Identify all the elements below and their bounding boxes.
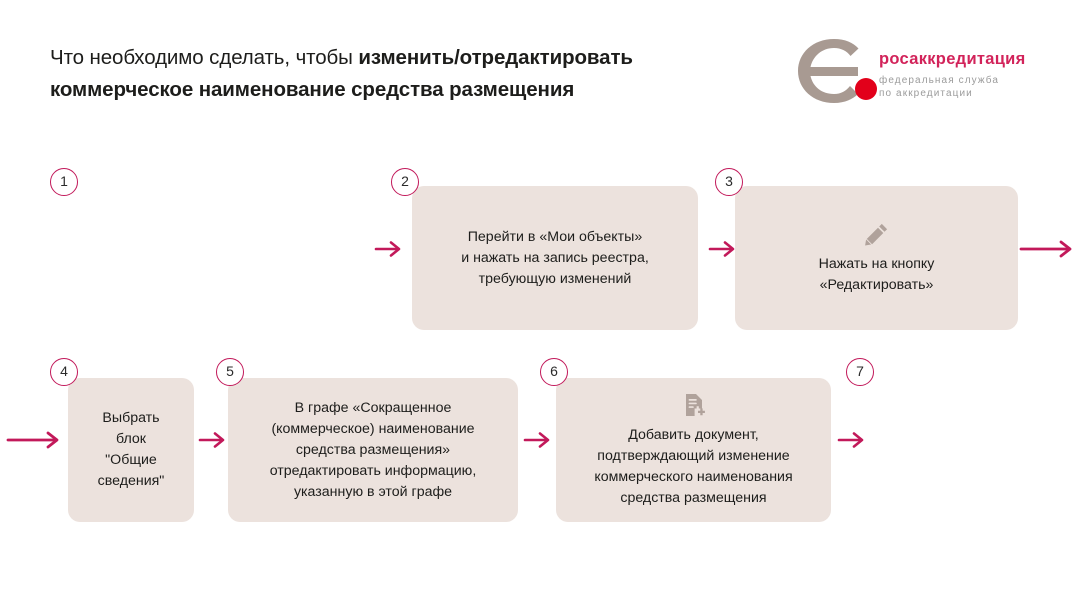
step-badge-6: 6 bbox=[540, 358, 568, 386]
step-badge-5: 5 bbox=[216, 358, 244, 386]
arrow-step3-to-next-row bbox=[1019, 239, 1077, 259]
page-title: Что необходимо сделать, чтобы изменить/о… bbox=[50, 42, 760, 106]
step-box-4: Выбрать блок "Общие сведения" bbox=[68, 378, 194, 522]
step-box-2: Перейти в «Мои объекты» и нажать на запи… bbox=[412, 186, 698, 330]
step-badge-2: 2 bbox=[391, 168, 419, 196]
logo-subtitle: федеральная служба по аккредитации bbox=[879, 74, 1051, 100]
pencil-icon bbox=[864, 221, 890, 247]
step-badge-4: 4 bbox=[50, 358, 78, 386]
step-box-6: Добавить документ, подтверждающий измене… bbox=[556, 378, 831, 522]
step-text-6: Добавить документ, подтверждающий измене… bbox=[582, 425, 804, 509]
step-box-3: Нажать на кнопку «Редактировать» bbox=[735, 186, 1018, 330]
arrow-step1-to-step2 bbox=[374, 240, 404, 258]
logo-name: росаккредитация bbox=[879, 50, 1051, 69]
arrow-step2-to-step3 bbox=[708, 240, 738, 258]
step-text-2: Перейти в «Мои объекты» и нажать на запи… bbox=[449, 227, 661, 290]
arrow-rowwrap-to-step4 bbox=[6, 430, 64, 450]
document-add-icon bbox=[681, 392, 707, 418]
step-badge-1: 1 bbox=[50, 168, 78, 196]
step-text-5: В графе «Сокращенное (коммерческое) наим… bbox=[258, 398, 489, 503]
page-title-bold-1: изменить/отредактировать bbox=[358, 46, 632, 69]
step-text-3: Нажать на кнопку «Редактировать» bbox=[807, 254, 947, 296]
arrow-step6-to-step7 bbox=[837, 431, 867, 449]
page-title-plain: Что необходимо сделать, чтобы bbox=[50, 46, 358, 69]
page-header: Что необходимо сделать, чтобы изменить/о… bbox=[0, 0, 1080, 130]
step-box-5: В графе «Сокращенное (коммерческое) наим… bbox=[228, 378, 518, 522]
logo-text: росаккредитация федеральная служба по ак… bbox=[879, 50, 1051, 100]
page-title-bold-2: коммерческое наименование средства разме… bbox=[50, 78, 574, 101]
arrow-step5-to-step6 bbox=[523, 431, 553, 449]
arrow-step4-to-step5 bbox=[198, 431, 228, 449]
logo: росаккредитация федеральная служба по ак… bbox=[795, 36, 1050, 108]
red-dot-icon bbox=[855, 78, 877, 100]
step-badge-3: 3 bbox=[715, 168, 743, 196]
step-text-4: Выбрать блок "Общие сведения" bbox=[86, 408, 177, 492]
step-badge-7: 7 bbox=[846, 358, 874, 386]
